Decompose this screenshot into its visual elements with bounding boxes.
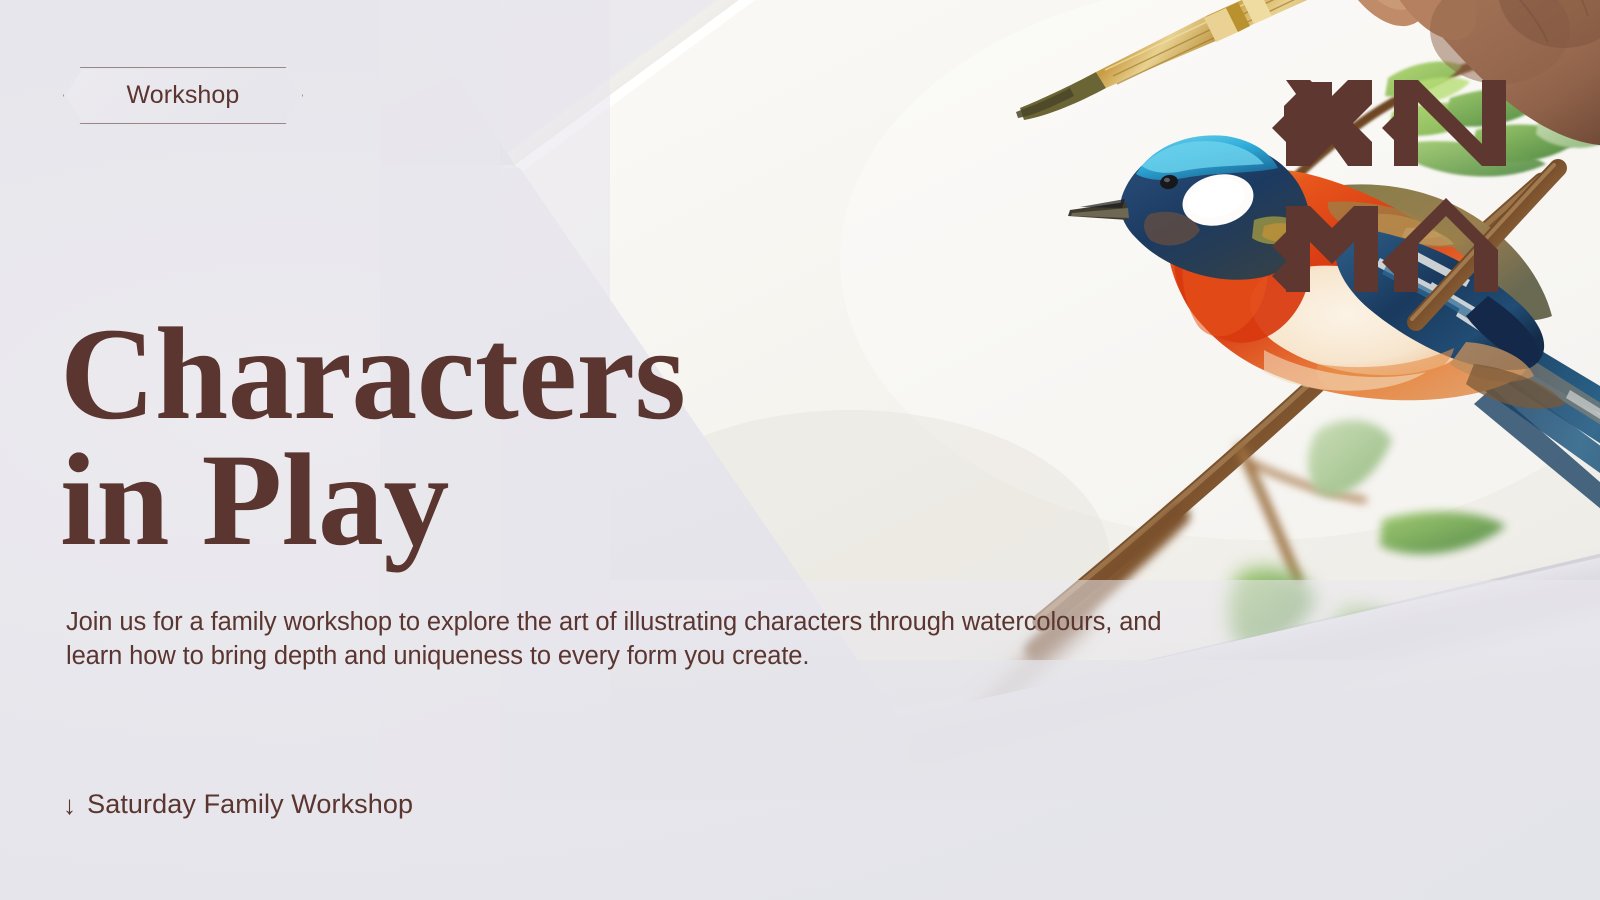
workshop-badge-label: Workshop bbox=[127, 81, 240, 110]
workshop-badge[interactable]: Workshop bbox=[63, 67, 303, 124]
logo-glyph-k bbox=[1272, 80, 1372, 166]
knmm-monogram-logo[interactable] bbox=[1268, 66, 1506, 304]
page-title: Characters in Play bbox=[60, 312, 780, 562]
saturday-workshop-label: Saturday Family Workshop bbox=[87, 789, 413, 820]
page-title-line-1: Characters bbox=[60, 312, 780, 436]
poster-stage: Workshop Characters in Play Join us for … bbox=[0, 0, 1600, 900]
saturday-workshop-link[interactable]: ↓ Saturday Family Workshop bbox=[63, 789, 413, 820]
page-title-line-2: in Play bbox=[60, 438, 780, 562]
logo-glyph-m-alt bbox=[1382, 198, 1498, 292]
arrow-down-icon: ↓ bbox=[63, 792, 76, 818]
description-text: Join us for a family workshop to explore… bbox=[66, 605, 1211, 673]
logo-glyph-n bbox=[1382, 80, 1506, 166]
logo-glyph-m bbox=[1272, 206, 1378, 292]
